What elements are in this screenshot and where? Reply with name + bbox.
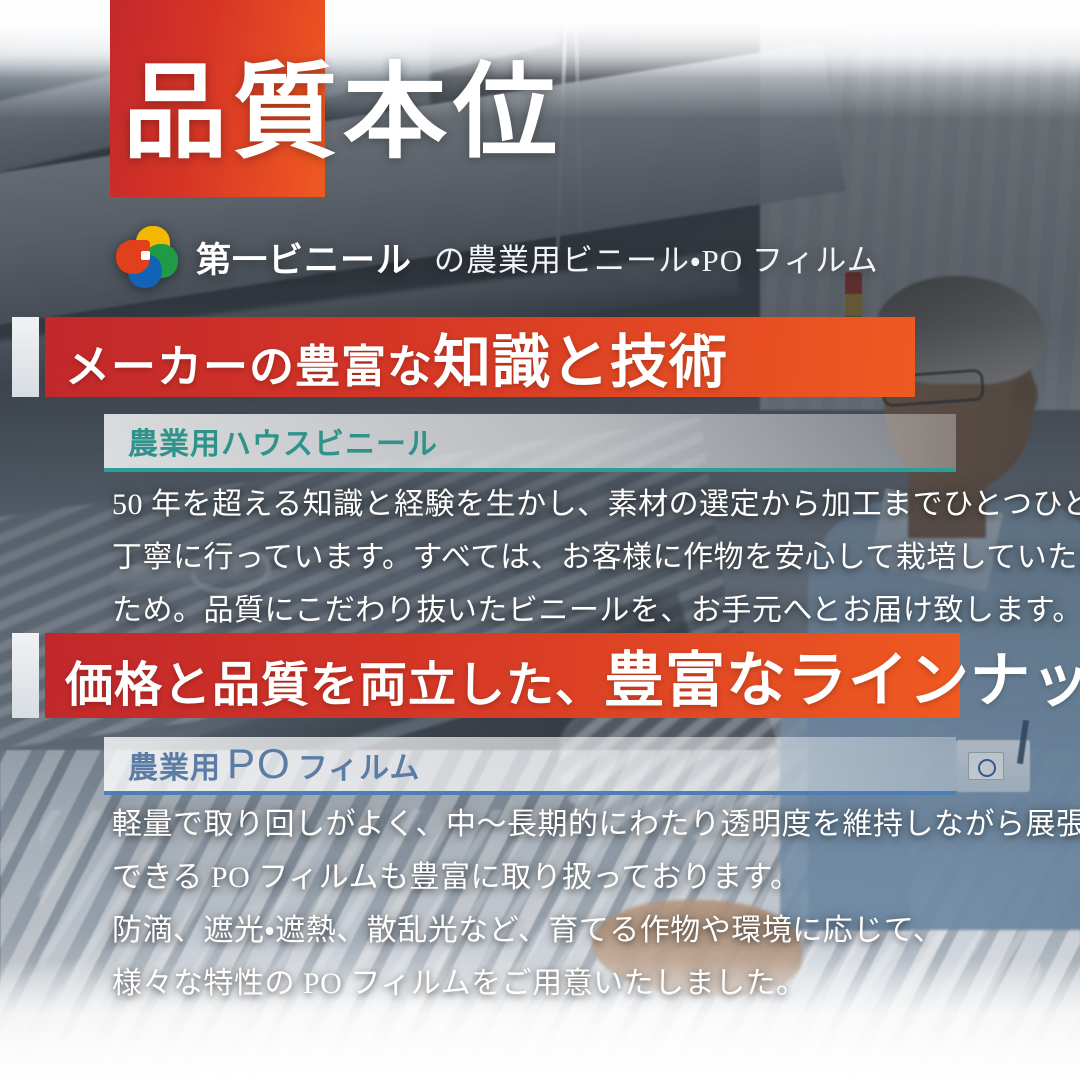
paragraph-line: 50 年を超える知識と経験を生かし、素材の選定から加工までひとつひとつ (112, 478, 1080, 531)
section-band-2: 価格と品質を両立した、豊富なラインナップ (45, 633, 960, 718)
paragraph-line: 防滴、遮光・遮熱、散乱光など、育てる作物や環境に応じて、 (112, 904, 1080, 957)
section-band-1-text-large: 知識と技術 (433, 330, 728, 395)
subheading-plate-1: 農業用ハウスビニール (104, 414, 956, 472)
section-band-2-text-large: 豊富なラインナップ (604, 648, 1080, 714)
promo-banner: 品質本位 第一ビニール の農業用ビニール・PO フィルム メーカーの豊富な知識と… (0, 0, 1080, 1080)
paragraph-line: できる PO フィルムも豊富に取り扱っております。 (112, 851, 1080, 904)
paragraph-line: ため。品質にこだわり抜いたビニールを、お手元へとお届け致します。 (112, 584, 1080, 637)
subheading-2-prefix: 農業用 (128, 743, 221, 787)
brand-row: 第一ビニール の農業用ビニール・PO フィルム (116, 226, 879, 288)
paragraph-line: 軽量で取り回しがよく、中～長期的にわたり透明度を維持しながら展張 (112, 798, 1080, 851)
brand-tagline: の農業用ビニール・PO フィルム (434, 235, 879, 280)
section-accent-bar-1 (12, 317, 39, 397)
section-band-2-text: 価格と品質を両立した、豊富なラインナップ (45, 632, 1080, 719)
subheading-plate-1-text: 農業用ハウスビニール (104, 419, 438, 463)
subheading-2-emphasis: PO (221, 740, 298, 788)
subheading-2-suffix: フィルム (298, 743, 421, 787)
company-name: 第一ビニール (196, 232, 412, 283)
subheading-plate-2: 農業用POフィルム (104, 737, 956, 795)
page-title: 品質本位 (123, 62, 563, 166)
paragraph-line: 丁寧に行っています。すべては、お客様に作物を安心して栽培していただく (112, 531, 1080, 584)
section-band-1: メーカーの豊富な知識と技術 (45, 317, 915, 397)
subheading-1-prefix: 農業用 (128, 419, 221, 463)
flower-logo-icon (116, 226, 178, 288)
section-accent-bar-2 (12, 633, 39, 718)
subheading-1-suffix: ハウスビニール (221, 419, 438, 463)
paragraph-line: 様々な特性の PO フィルムをご用意いたしました。 (112, 957, 1080, 1010)
section-band-2-text-small: 価格と品質を両立した、 (65, 659, 604, 712)
section-band-1-text-small: メーカーの豊富な (65, 342, 433, 392)
subheading-plate-2-text: 農業用POフィルム (104, 740, 421, 788)
section-band-1-text: メーカーの豊富な知識と技術 (45, 315, 728, 399)
section-2-paragraph: 軽量で取り回しがよく、中～長期的にわたり透明度を維持しながら展張 できる PO … (112, 798, 1080, 1010)
section-1-paragraph: 50 年を超える知識と経験を生かし、素材の選定から加工までひとつひとつ 丁寧に行… (112, 478, 1080, 637)
